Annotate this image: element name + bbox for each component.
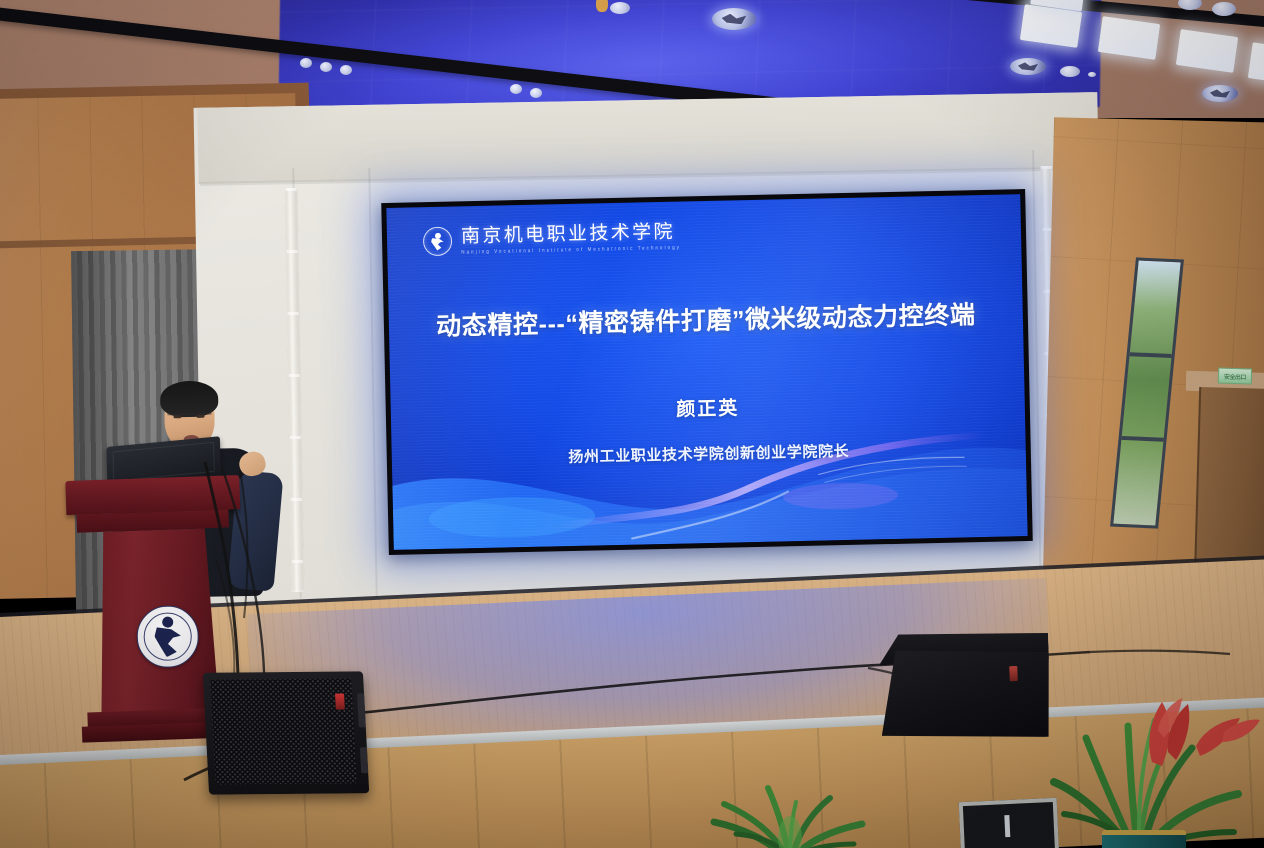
ceiling-track-lamp [1212,2,1236,16]
ceiling-panel-light [1248,42,1264,85]
institution-name-cn: 南京机电职业技术学院 [461,223,681,248]
slide-institution-logo: 南京机电职业技术学院 Nanjing Vocational Institute … [423,222,681,257]
ceiling-small-fixture [1088,72,1096,77]
ceiling-track-lamp [300,58,312,68]
exit-sign: 安全出口 [1218,368,1252,385]
presenter-eye-left [173,415,181,418]
ceiling-spot-lamp [596,0,608,12]
institution-emblem-icon [423,227,453,257]
ceiling-round-fixture [1010,58,1046,75]
ceiling-round-fixture [712,8,756,30]
ceiling-track-lamp [320,62,332,72]
slide-canvas: 南京机电职业技术学院 Nanjing Vocational Institute … [386,194,1027,550]
slide-presenter-name: 颜正英 [391,387,1025,428]
ceiling-panel-light [1098,16,1160,60]
ceiling-small-fixture [1060,66,1080,77]
bromeliad-plant-right [1020,690,1260,848]
podium-seal-icon [136,605,200,669]
podium-body [95,528,219,716]
slide-title: 动态精控---“精密铸件打磨”微米级动态力控终端 [389,294,1024,344]
bromeliad-plant-left [690,778,890,848]
ceiling-track-lamp [1178,0,1202,10]
podium-collar [76,509,229,532]
speaker-brand-badge [1009,666,1018,681]
ceiling-round-fixture [1202,85,1238,102]
ceiling-small-fixture [610,2,630,14]
ceiling-track-lamp [510,84,522,94]
presenter-eye-right [196,415,204,418]
ceiling-track-lamp [530,88,542,98]
speaker-side-handle [360,747,368,773]
plant-pot [1102,830,1186,848]
ceiling-track-lamp [340,65,352,75]
presentation-photo-scene: 安全出口 [0,0,1264,848]
ceiling-panel-light [1176,29,1238,73]
institution-name-block: 南京机电职业技术学院 Nanjing Vocational Institute … [461,223,681,255]
stage-monitor-speaker-left [203,671,370,794]
speaker-brand-badge [335,694,345,710]
led-display-screen: 南京机电职业技术学院 Nanjing Vocational Institute … [381,189,1033,555]
